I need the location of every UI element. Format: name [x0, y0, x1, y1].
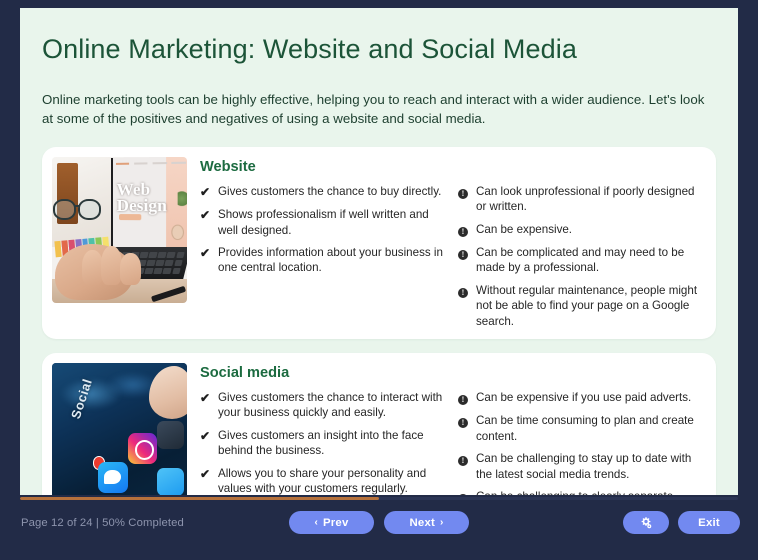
website-cons-column: ! Can look unprofessional if poorly desi…	[458, 184, 702, 329]
progress-bar-fill	[20, 497, 379, 500]
progress-status-text: Page 12 of 24 | 50% Completed	[21, 517, 184, 529]
check-icon: ✔	[200, 390, 212, 406]
list-item: ✔ Provides information about your busine…	[200, 245, 448, 276]
prev-button[interactable]: ‹ Prev	[289, 511, 374, 534]
progress-bar[interactable]	[20, 497, 738, 500]
utility-button-group: Exit	[623, 511, 740, 534]
social-cons-column: ! Can be expensive if you use paid adver…	[458, 390, 702, 495]
exclamation-icon: !	[458, 390, 470, 406]
list-item: ! Can be complicated and may need to be …	[458, 245, 702, 276]
nav-button-group: ‹ Prev Next ›	[289, 511, 469, 534]
chevron-right-icon: ›	[440, 517, 444, 528]
list-item: ! Can be time consuming to plan and crea…	[458, 413, 702, 444]
social-pros-column: ✔ Gives customers the chance to interact…	[200, 390, 448, 495]
list-item: ✔ Gives customers an insight into the fa…	[200, 428, 448, 459]
website-pros-column: ✔ Gives customers the chance to buy dire…	[200, 184, 448, 329]
card-heading-website: Website	[200, 159, 702, 175]
website-pros-list: ✔ Gives customers the chance to buy dire…	[200, 184, 448, 276]
exclamation-icon: !	[458, 451, 470, 467]
list-item: ! Can be expensive.	[458, 222, 702, 238]
exclamation-icon: !	[458, 184, 470, 200]
check-icon: ✔	[200, 245, 212, 261]
list-item: ! Without regular maintenance, people mi…	[458, 283, 702, 329]
card-list: Web Design	[42, 147, 716, 495]
presentation-frame: Online Marketing: Website and Social Med…	[0, 0, 758, 560]
card-social-media: Social Social media	[42, 353, 716, 495]
check-icon: ✔	[200, 466, 212, 482]
list-item: ! Can be expensive if you use paid adver…	[458, 390, 702, 406]
list-item: ✔ Shows professionalism if well written …	[200, 207, 448, 238]
player-footer: Page 12 of 24 | 50% Completed ‹ Prev Nex…	[0, 495, 758, 560]
prev-button-label: Prev	[323, 517, 349, 529]
card-website: Web Design	[42, 147, 716, 339]
social-pros-list: ✔ Gives customers the chance to interact…	[200, 390, 448, 495]
exclamation-icon: !	[458, 245, 470, 261]
social-cons-list: ! Can be expensive if you use paid adver…	[458, 390, 702, 495]
list-item: ! Can be challenging to stay up to date …	[458, 451, 702, 482]
exclamation-icon: !	[458, 413, 470, 429]
exclamation-icon: !	[458, 222, 470, 238]
social-media-photo: Social	[52, 363, 187, 495]
photo-screen-caption: Web Design	[117, 181, 167, 214]
list-item: ✔ Gives customers the chance to interact…	[200, 390, 448, 421]
check-icon: ✔	[200, 184, 212, 200]
list-item: ! Can look unprofessional if poorly desi…	[458, 184, 702, 215]
chevron-left-icon: ‹	[314, 517, 318, 528]
card-heading-social-media: Social media	[200, 365, 702, 381]
website-photo: Web Design	[52, 157, 187, 303]
next-button[interactable]: Next ›	[384, 511, 469, 534]
settings-button[interactable]	[623, 511, 669, 534]
exit-button[interactable]: Exit	[678, 511, 740, 534]
slide-intro-text: Online marketing tools can be highly eff…	[42, 91, 710, 129]
exclamation-icon: !	[458, 283, 470, 299]
slide-canvas: Online Marketing: Website and Social Med…	[20, 8, 738, 495]
check-icon: ✔	[200, 428, 212, 444]
list-item: ✔ Allows you to share your personality a…	[200, 466, 448, 495]
website-cons-list: ! Can look unprofessional if poorly desi…	[458, 184, 702, 329]
exit-button-label: Exit	[698, 517, 720, 529]
page-title: Online Marketing: Website and Social Med…	[42, 34, 716, 65]
list-item: ✔ Gives customers the chance to buy dire…	[200, 184, 448, 200]
next-button-label: Next	[409, 517, 435, 529]
check-icon: ✔	[200, 207, 212, 223]
gear-icon	[639, 516, 653, 530]
